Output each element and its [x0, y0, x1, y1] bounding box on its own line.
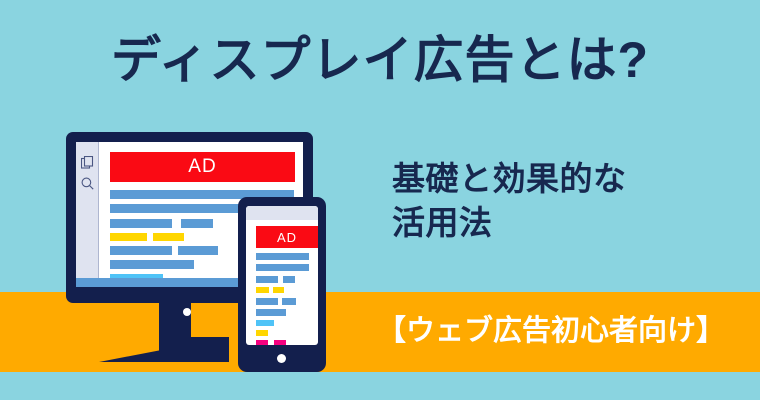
poster-canvas: ディスプレイ広告とは? 基礎と効果的な 活用法 【ウェブ広告初心者向け】: [0, 0, 760, 400]
monitor-sidebar-divider: [98, 142, 99, 285]
tablet-home-button: [277, 354, 286, 363]
page-title: ディスプレイ広告とは?: [0, 32, 760, 90]
monitor-ad-label: AD: [188, 156, 216, 178]
content-bar: [110, 246, 172, 255]
tablet-frame: AD: [238, 197, 326, 372]
content-bar: [181, 219, 213, 228]
search-icon: [81, 177, 94, 190]
content-bar: [282, 298, 296, 305]
content-bar: [256, 253, 309, 260]
tablet-illustration: AD: [238, 197, 326, 372]
content-bar: [256, 320, 274, 326]
tablet-ad-banner: AD: [256, 226, 318, 248]
desktop-monitor-illustration: AD: [66, 132, 313, 162]
audience-badge: 【ウェブ広告初心者向け】: [371, 303, 731, 353]
content-bar: [256, 287, 269, 293]
subtitle-line-1: 基礎と効果的な: [392, 160, 627, 197]
content-bar: [256, 330, 268, 336]
monitor-ad-banner: AD: [110, 152, 295, 182]
content-bar: [256, 276, 278, 283]
content-bar: [110, 233, 147, 241]
content-bar: [274, 340, 286, 345]
content-bar: [256, 264, 309, 271]
layers-icon: [81, 156, 94, 169]
tablet-status-bar: [246, 206, 318, 220]
content-bar: [273, 287, 284, 293]
content-bar: [256, 309, 286, 316]
content-bar: [110, 219, 172, 228]
content-bar: [153, 233, 184, 241]
audience-badge-label: 【ウェブ広告初心者向け】: [377, 307, 725, 349]
subtitle: 基礎と効果的な 活用法: [392, 157, 722, 244]
monitor-power-indicator: [183, 308, 191, 316]
tablet-ad-label: AD: [277, 230, 297, 245]
content-bar: [110, 260, 194, 269]
content-bar: [256, 340, 268, 345]
content-bar: [256, 298, 278, 305]
tablet-screen: AD: [246, 206, 318, 345]
content-bar: [178, 246, 218, 255]
subtitle-line-2: 活用法: [392, 201, 722, 245]
content-bar: [283, 276, 295, 283]
